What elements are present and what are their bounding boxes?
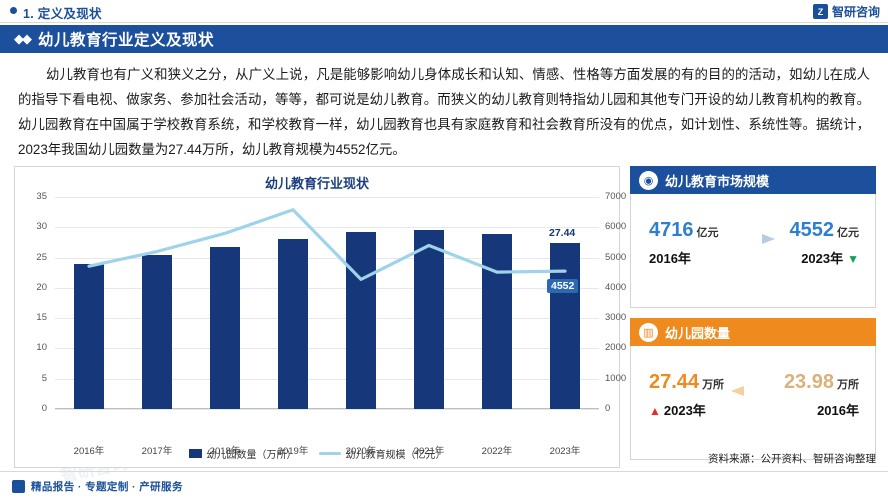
chart-gridline [55, 409, 599, 410]
chart-title: 幼儿教育行业现状 [15, 173, 619, 192]
arrow-right-icon [730, 231, 776, 252]
chart-line [55, 197, 599, 409]
card-left-year-row: ▲2023年 [649, 400, 724, 419]
legend-label-line: 幼儿教育规模（亿元） [346, 446, 446, 461]
legend-swatch-line-icon [319, 452, 341, 455]
globe-icon: ◉ [639, 171, 658, 190]
y-axis-tick: 20 [17, 282, 47, 293]
card-right-year-row: 2023年▼ [790, 248, 860, 267]
legend-label-bar: 幼儿园数量（万所） [207, 446, 297, 461]
card-header: ◉ 幼儿教育市场规模 [630, 166, 876, 194]
brand-logo: Z 智研咨询 [813, 3, 880, 20]
chart-legend: 幼儿园数量（万所） 幼儿教育规模（亿元） [15, 446, 619, 461]
section-label: 1. 定义及现状 [23, 3, 102, 22]
card-left-value: 27.44 [649, 371, 699, 393]
card-right-year: 2016年 [784, 400, 859, 419]
body-paragraph: 幼儿教育也有广义和狭义之分，从广义上说，凡是能够影响幼儿身体成长和认知、情感、性… [18, 62, 870, 162]
card-left-value-group: 27.44万所 ▲2023年 [649, 371, 724, 419]
card-left-unit: 万所 [702, 379, 724, 391]
card-right-unit: 亿元 [837, 227, 859, 239]
card-header: ▥ 幼儿园数量 [630, 318, 876, 346]
card-title: 幼儿园数量 [665, 323, 730, 342]
trend-down-icon: ▼ [847, 252, 859, 266]
y-axis-tick: 5 [17, 373, 47, 384]
bullet-icon [10, 7, 17, 14]
band-title: 幼儿教育行业定义及现状 [38, 28, 214, 50]
y-axis-tick: 30 [17, 221, 47, 232]
footer-slogan: 精品报告 · 专题定制 · 产研服务 [31, 479, 183, 494]
arrow-left-icon [730, 383, 776, 404]
source-note: 资料来源：公开资料、智研咨询整理 [708, 451, 876, 466]
card-right-value: 4552 [790, 219, 835, 241]
line-data-label: 4552 [547, 279, 578, 293]
y-axis-tick: 15 [17, 312, 47, 323]
legend-swatch-bar-icon [189, 449, 202, 458]
card-kindergarten-count: ▥ 幼儿园数量 27.44万所 ▲2023年 23.98万所 2016年 [630, 318, 876, 460]
card-title: 幼儿教育市场规模 [665, 171, 769, 190]
top-bar: 1. 定义及现状 Z 智研咨询 [0, 0, 888, 23]
trend-up-icon: ▲ [649, 404, 661, 418]
card-right-unit: 万所 [837, 379, 859, 391]
card-left-year: 2023年 [664, 403, 706, 418]
card-left-value-group: 4716亿元 2016年 [649, 219, 719, 267]
card-market-size: ◉ 幼儿教育市场规模 4716亿元 2016年 4552亿元 2023年▼ [630, 166, 876, 308]
brand-mark-icon: Z [813, 4, 828, 19]
footer-divider [0, 471, 888, 472]
y-axis-tick: 0 [17, 403, 47, 414]
footer-slogan-group: 精品报告 · 专题定制 · 产研服务 [12, 479, 183, 494]
chart-panel: 幼儿教育行业现状 0510152025303501000200030004000… [14, 166, 620, 468]
legend-item-line: 幼儿教育规模（亿元） [319, 446, 446, 461]
section-title-band: ◆◆ 幼儿教育行业定义及现状 [0, 25, 888, 53]
legend-item-bars: 幼儿园数量（万所） [189, 446, 297, 461]
chart-plot-area: 0510152025303501000200030004000500060007… [55, 197, 599, 409]
card-left-value: 4716 [649, 219, 694, 241]
card-right-value: 23.98 [784, 371, 834, 393]
y-axis-tick: 10 [17, 342, 47, 353]
card-right-year: 2023年 [801, 251, 843, 266]
bar-data-label: 27.44 [549, 227, 575, 239]
y-axis-tick: 25 [17, 252, 47, 263]
footer-logo-icon [12, 480, 25, 493]
card-right-value-group: 23.98万所 2016年 [784, 371, 859, 419]
chart-icon: ▥ [639, 323, 658, 342]
card-left-year: 2016年 [649, 248, 719, 267]
card-right-value-group: 4552亿元 2023年▼ [790, 219, 860, 267]
card-left-unit: 亿元 [697, 227, 719, 239]
brand-text: 智研咨询 [832, 3, 880, 20]
diamond-icon: ◆◆ [14, 31, 30, 47]
y-axis-tick: 35 [17, 191, 47, 202]
